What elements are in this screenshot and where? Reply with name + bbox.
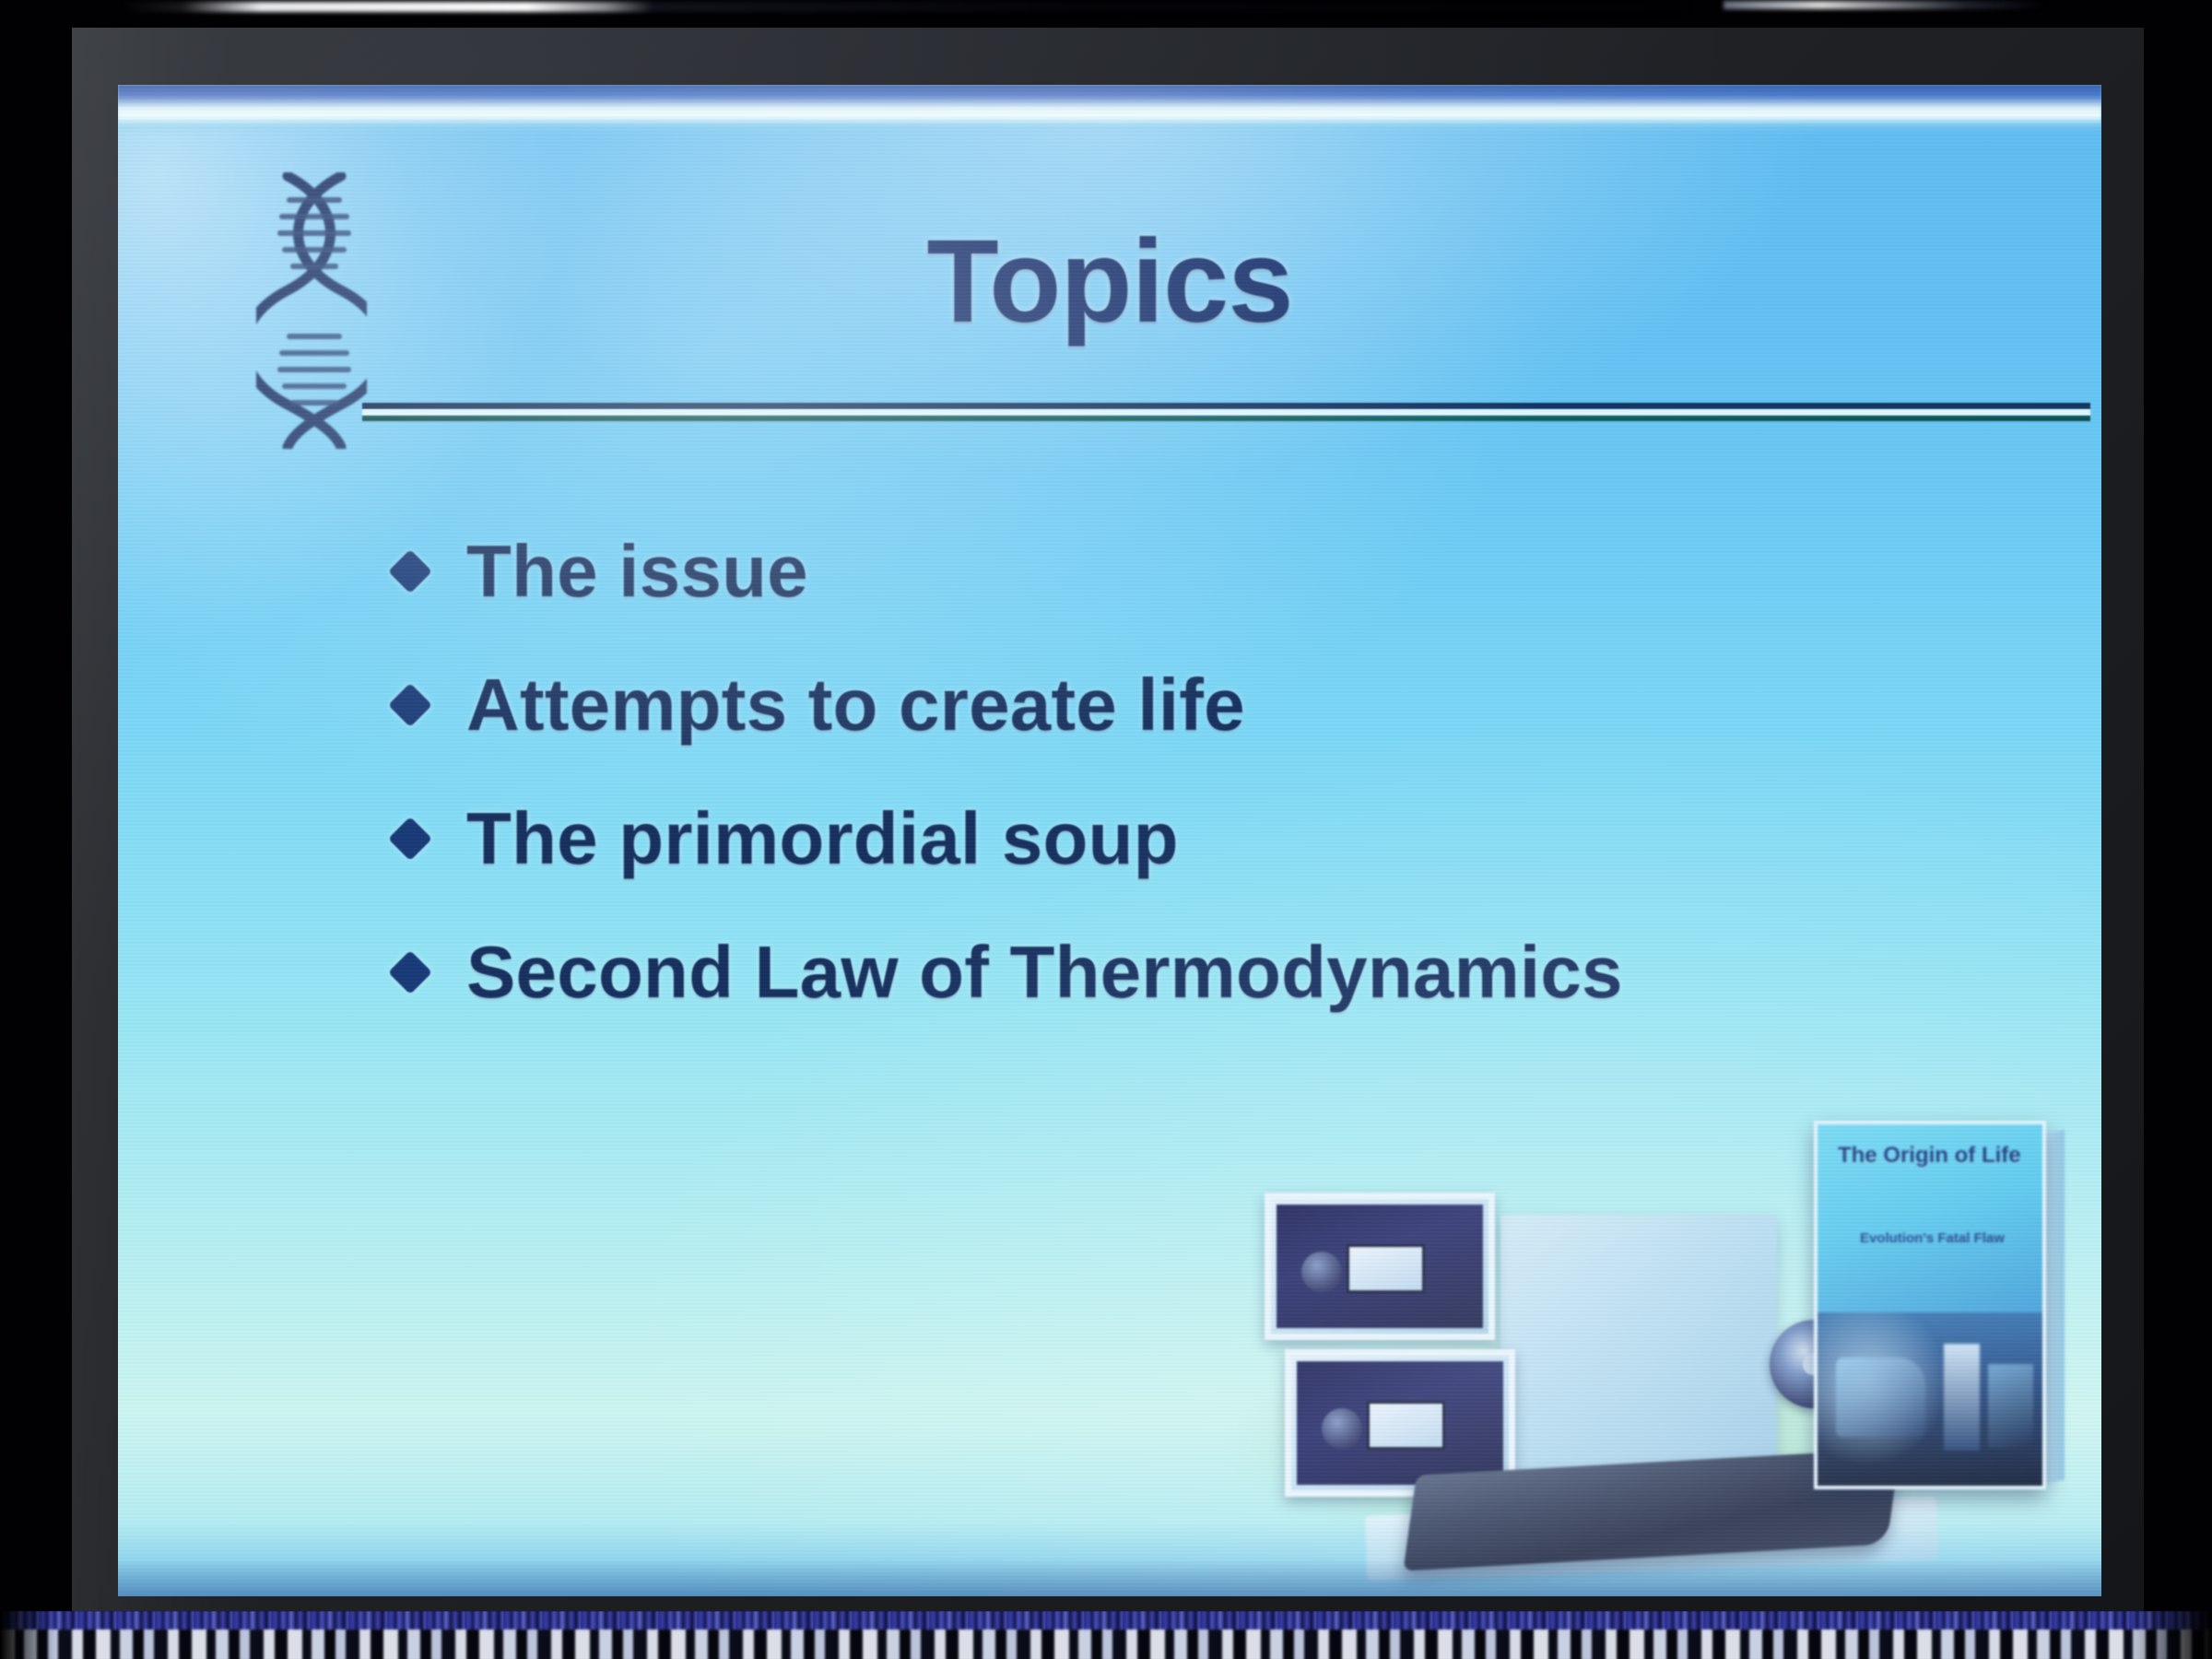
list-item: The issue: [394, 504, 1961, 638]
list-item-label: The issue: [466, 529, 808, 614]
bullet-list: The issue Attempts to create life The pr…: [394, 504, 1961, 1039]
vhs-tape-upper: [1265, 1193, 1495, 1340]
book-front-face: The Origin of Life Evolution's Fatal Fla…: [1814, 1121, 2046, 1489]
list-item-label: Second Law of Thermodynamics: [466, 930, 1623, 1015]
book-photo-shape-b: [1944, 1344, 1980, 1452]
list-item-label: Attempts to create life: [466, 663, 1245, 747]
tear-noise-band: [0, 1611, 2212, 1631]
vhs-label-face: [1297, 1361, 1503, 1485]
product-box-back: [1500, 1215, 1777, 1491]
list-item-label: The primordial soup: [466, 796, 1179, 881]
vhs-window: [1347, 1244, 1425, 1294]
list-item: Attempts to create life: [394, 638, 1961, 771]
title-divider: [362, 403, 2090, 430]
divider-line-light: [362, 409, 2090, 416]
vhs-reel-icon: [1301, 1252, 1342, 1292]
presentation-slide: Topics The issue Attempts to create life…: [118, 85, 2101, 1596]
divider-line-dark: [362, 403, 2090, 409]
list-item: The primordial soup: [394, 771, 1961, 905]
list-item: Second Law of Thermodynamics: [394, 905, 1961, 1039]
book-photo-shape-a: [1836, 1358, 1926, 1438]
video-tear-artifact: [0, 1611, 2212, 1659]
diamond-bullet-icon: [388, 682, 432, 726]
projector-bloom-band: [118, 85, 2101, 135]
product-package-photo: The Origin of Life Evolution's Fatal Fla…: [1228, 1091, 2057, 1571]
video-top-artifact: [120, 2, 1687, 12]
tear-garbled-band: [0, 1630, 2212, 1659]
book-subtitle: Evolution's Fatal Flaw: [1842, 1230, 2022, 1248]
page-title: Topics: [118, 214, 2101, 349]
vhs-reel-icon: [1322, 1408, 1362, 1449]
tear-mask-right: [2129, 1611, 2212, 1659]
vhs-window: [1367, 1401, 1445, 1451]
book-title: The Origin of Life: [1838, 1143, 2027, 1168]
vhs-label-face: [1277, 1205, 1483, 1328]
book-cover-photo: [1818, 1312, 2042, 1486]
book-photo-shape-c: [1988, 1364, 2033, 1447]
diamond-bullet-icon: [388, 816, 432, 860]
diamond-bullet-icon: [388, 949, 432, 994]
divider-line-teal: [362, 416, 2090, 421]
video-frame: Topics The issue Attempts to create life…: [0, 0, 2212, 1659]
diamond-bullet-icon: [388, 548, 432, 593]
book-cover: The Origin of Life Evolution's Fatal Fla…: [1814, 1121, 2046, 1489]
tear-mask-left: [0, 1611, 55, 1659]
video-top-artifact-secondary: [1724, 1, 2046, 9]
